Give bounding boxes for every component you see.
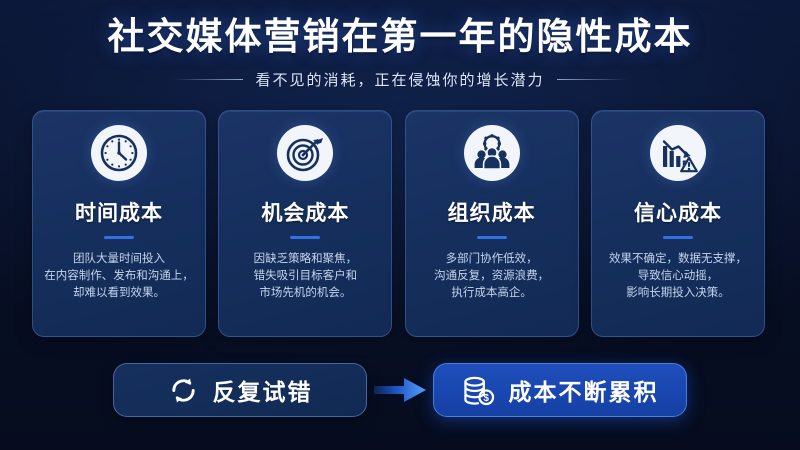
card-divider	[477, 236, 507, 239]
card-desc-line: 团队大量时间投入	[44, 251, 194, 268]
svg-text:$: $	[483, 393, 489, 404]
page-subtitle: 看不见的消耗，正在侵蚀你的增长潜力	[255, 69, 544, 90]
subtitle-rule-left	[173, 79, 243, 80]
card-description: 团队大量时间投入 在内容制作、发布和沟通上， 却难以看到效果。	[36, 251, 202, 302]
card-divider	[290, 236, 320, 239]
cost-card-opportunity[interactable]: 机会成本 因缺乏策略和聚焦， 错失吸引目标客户和 市场先机的机会。	[218, 110, 392, 337]
card-desc-line: 影响长期投入决策。	[609, 285, 747, 302]
target-arrow-icon	[277, 125, 333, 181]
cost-card-time[interactable]: 时间成本 团队大量时间投入 在内容制作、发布和沟通上， 却难以看到效果。	[32, 110, 206, 337]
arrow-right-icon	[374, 377, 426, 403]
card-desc-line: 却难以看到效果。	[44, 285, 194, 302]
card-title: 信心成本	[634, 197, 722, 227]
card-desc-line: 多部门协作低效，	[434, 251, 549, 268]
card-description: 因缺乏策略和聚焦， 错失吸引目标客户和 市场先机的机会。	[246, 251, 366, 302]
page-title: 社交媒体营销在第一年的隐性成本	[0, 14, 800, 60]
cost-card-list: 时间成本 团队大量时间投入 在内容制作、发布和沟通上， 却难以看到效果。	[32, 110, 765, 337]
subtitle-rule-right	[557, 79, 627, 80]
trial-and-error-pill[interactable]: 反复试错	[113, 363, 367, 417]
card-divider	[663, 236, 693, 239]
card-description: 效果不确定，数据无支撑， 导致信心动摇， 影响长期投入决策。	[601, 251, 755, 302]
cost-card-confidence[interactable]: 信心成本 效果不确定，数据无支撑， 导致信心动摇， 影响长期投入决策。	[591, 110, 765, 337]
declining-chart-warning-icon	[650, 125, 706, 181]
header: 社交媒体营销在第一年的隐性成本 看不见的消耗，正在侵蚀你的增长潜力	[0, 14, 800, 90]
card-desc-line: 效果不确定，数据无支撑，	[609, 251, 747, 268]
conclusion-row: 反复试错	[0, 358, 800, 422]
accumulating-cost-label: 成本不断累积	[509, 373, 659, 407]
card-description: 多部门协作低效， 沟通反复，资源浪费， 执行成本高企。	[426, 251, 557, 302]
people-gear-icon	[464, 125, 520, 181]
trial-and-error-label: 反复试错	[213, 373, 313, 407]
cost-card-organization[interactable]: 组织成本 多部门协作低效， 沟通反复，资源浪费， 执行成本高企。	[405, 110, 579, 337]
card-desc-line: 沟通反复，资源浪费，	[434, 268, 549, 285]
flow-arrow	[367, 363, 433, 417]
card-title: 时间成本	[75, 197, 163, 227]
subtitle-row: 看不见的消耗，正在侵蚀你的增长潜力	[0, 69, 800, 90]
clock-icon	[91, 125, 147, 181]
card-desc-line: 导致信心动摇，	[609, 268, 747, 285]
coins-dollar-icon: $	[462, 375, 495, 406]
card-desc-line: 因缺乏策略和聚焦，	[254, 251, 358, 268]
slide-canvas: 社交媒体营销在第一年的隐性成本 看不见的消耗，正在侵蚀你的增长潜力	[0, 0, 800, 450]
refresh-cycle-icon	[168, 375, 199, 406]
card-divider	[104, 236, 134, 239]
accumulating-cost-pill[interactable]: $ 成本不断累积	[433, 363, 687, 417]
card-desc-line: 市场先机的机会。	[254, 285, 358, 302]
card-title: 组织成本	[448, 197, 536, 227]
card-title: 机会成本	[261, 197, 349, 227]
card-desc-line: 在内容制作、发布和沟通上，	[44, 268, 194, 285]
card-desc-line: 错失吸引目标客户和	[254, 268, 358, 285]
card-desc-line: 执行成本高企。	[434, 285, 549, 302]
